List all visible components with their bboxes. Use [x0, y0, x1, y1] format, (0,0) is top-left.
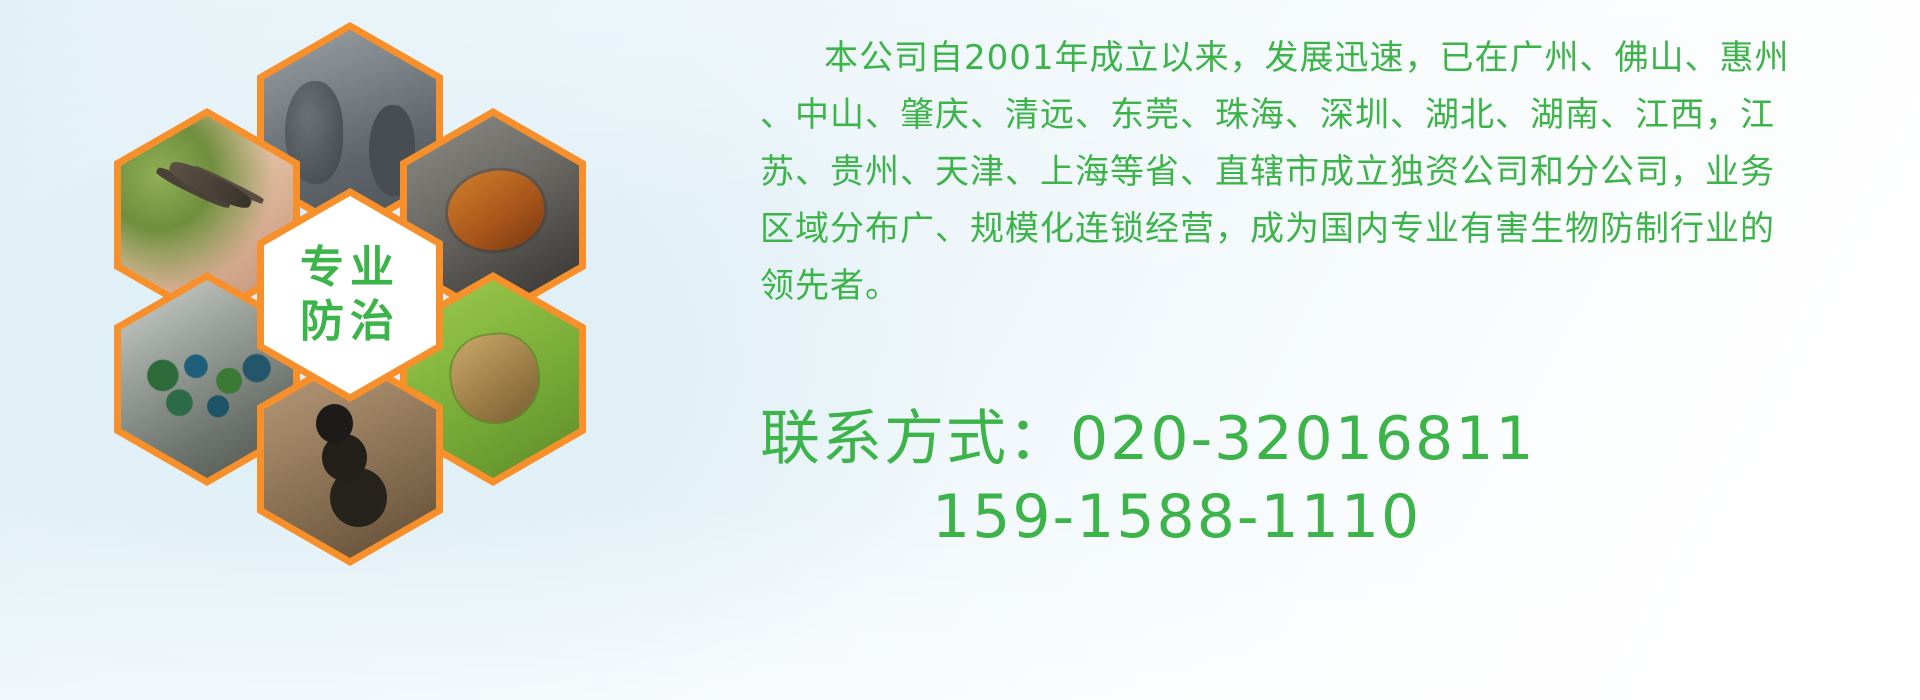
description-line-2: 、中山、肇庆、清远、东莞、珠海、深圳、湖北、湖南、江西，江	[760, 87, 1850, 144]
contact-block: 联系方式：020-32016811 159-1588-1110	[760, 400, 1860, 556]
contact-primary-row: 联系方式：020-32016811	[760, 400, 1860, 478]
company-description-block: 本公司自2001年成立以来，发展迅速，已在广州、佛山、惠州 、中山、肇庆、清远、…	[760, 30, 1850, 315]
description-line-3: 苏、贵州、天津、上海等省、直辖市成立独资公司和分公司，业务	[760, 144, 1850, 201]
description-line-5: 领先者。	[760, 258, 1850, 315]
contact-phone-secondary[interactable]: 159-1588-1110	[932, 482, 1421, 552]
promo-banner: 专业 防治 本公司自2001年成立以来，发展迅速，已在广州、佛山、惠州 、中山、…	[0, 0, 1920, 700]
badge-slogan-line2: 防治	[300, 299, 400, 345]
hex-badge-inner: 专业 防治	[264, 196, 436, 394]
description-line-4: 区域分布广、规模化连锁经营，成为国内专业有害生物防制行业的	[760, 201, 1850, 258]
description-line-1: 本公司自2001年成立以来，发展迅速，已在广州、佛山、惠州	[760, 30, 1850, 87]
company-description-paragraph: 本公司自2001年成立以来，发展迅速，已在广州、佛山、惠州 、中山、肇庆、清远、…	[760, 30, 1850, 315]
badge-slogan-line1: 专业	[300, 245, 400, 291]
badge-slogan-text: 专业 防治	[264, 196, 436, 394]
hexagon-photo-cluster: 专业 防治	[80, 0, 600, 700]
contact-label: 联系方式：	[760, 404, 1070, 474]
contact-secondary-row: 159-1588-1110	[760, 478, 1860, 556]
contact-phone-primary[interactable]: 020-32016811	[1070, 404, 1536, 474]
